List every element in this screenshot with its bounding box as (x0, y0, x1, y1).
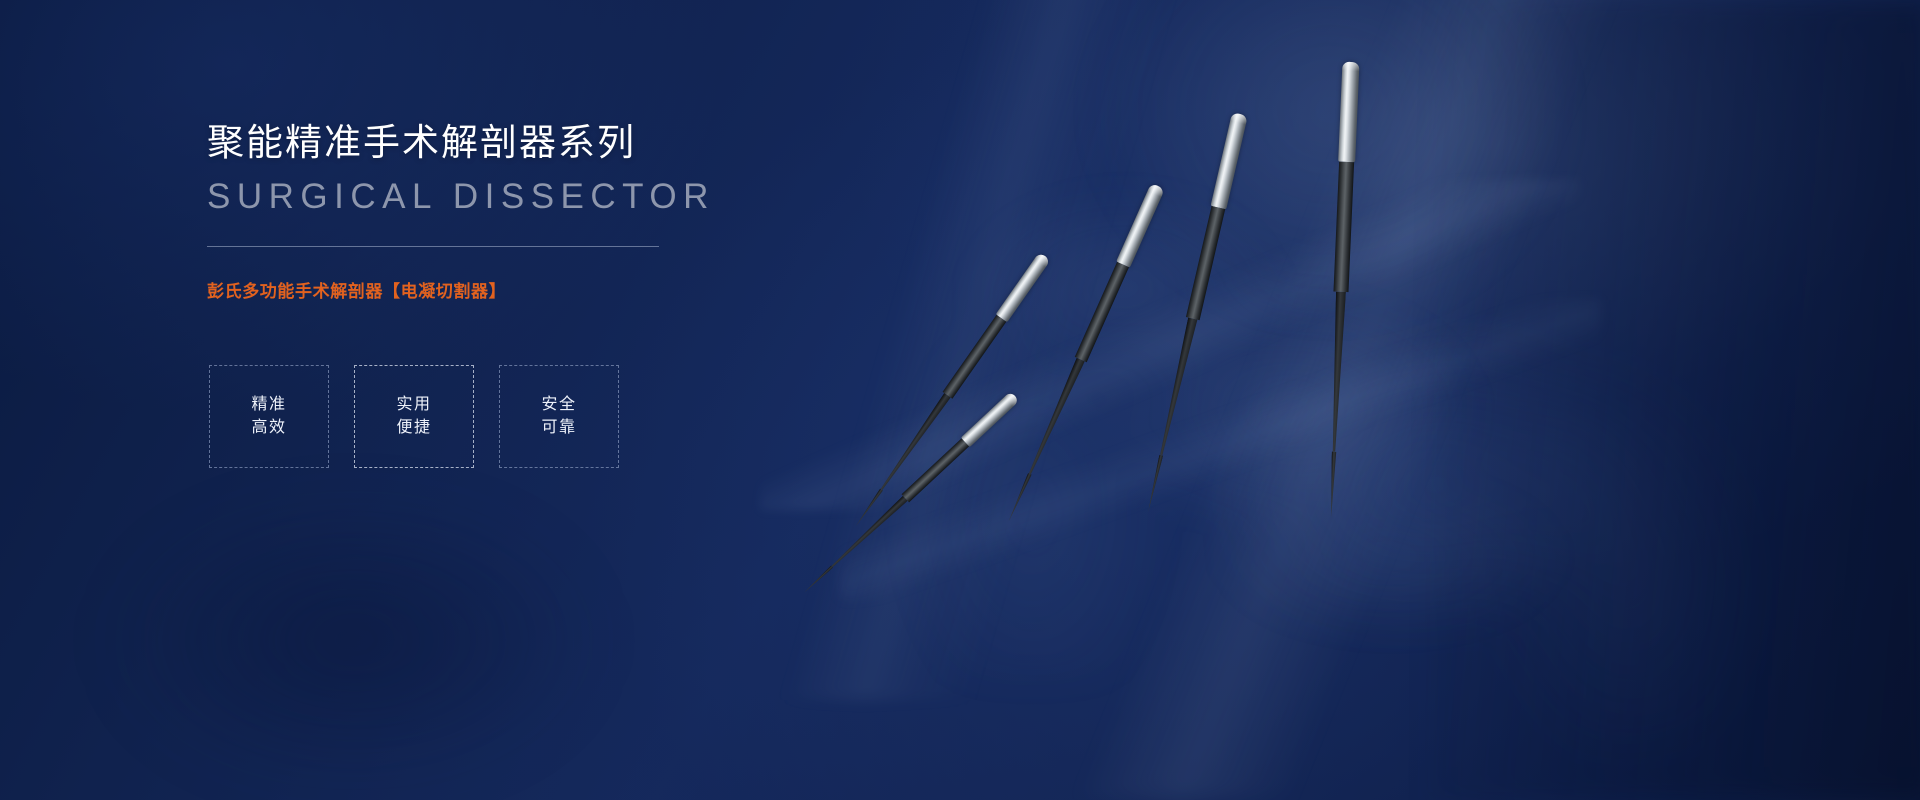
feature-box-3-line2: 可靠 (541, 420, 576, 436)
instrument-1-handle (961, 391, 1020, 447)
feature-box-1-line2: 高效 (251, 420, 286, 436)
instrument-3-tip-group (993, 182, 1168, 538)
instrument-3 (1071, 182, 1168, 365)
instrument-3-point (1007, 473, 1032, 522)
instrument-5-shaft (1333, 162, 1354, 293)
instrument-4-tip (1157, 318, 1198, 457)
title-divider (207, 246, 659, 247)
instrument-1 (899, 389, 1021, 504)
feature-box-list: 精准 高效 实用 便捷 安全 可靠 (209, 365, 619, 468)
background-right-vignette (1430, 0, 1920, 800)
feature-box-3-line1: 安全 (541, 397, 576, 413)
page-title-cn: 聚能精准手术解剖器系列 (207, 120, 636, 166)
instrument-1-shaft (902, 438, 969, 502)
feature-box-2[interactable]: 实用 便捷 (354, 365, 474, 468)
product-subtitle: 彭氏多功能手术解剖器【电凝切割器】 (207, 277, 506, 302)
feature-box-2-line1: 实用 (396, 397, 431, 413)
instrument-5-point (1329, 452, 1336, 518)
feature-box-3[interactable]: 安全 可靠 (499, 365, 619, 468)
background-arm-silhouette (1047, 202, 1832, 800)
background-hand-silhouette (820, 120, 1580, 680)
background-instrument-streak-2 (840, 300, 1600, 600)
feature-box-1-line1: 精准 (251, 397, 286, 413)
instrument-5-tip (1329, 292, 1346, 452)
instrument-4-shaft (1186, 206, 1225, 320)
page-title-en: SURGICAL DISSECTOR (207, 174, 715, 220)
feature-box-1[interactable]: 精准 高效 (209, 365, 329, 468)
instrument-4-point (1146, 455, 1163, 512)
banner-content: 聚能精准手术解剖器系列 SURGICAL DISSECTOR 彭氏多功能手术解剖… (207, 0, 907, 800)
instrument-4-tip-group (1134, 111, 1252, 526)
background-top-glow (980, 0, 1680, 420)
instrument-2-shaft (943, 315, 1007, 399)
instrument-3-shaft (1075, 262, 1129, 362)
instrument-2 (939, 250, 1053, 401)
instrument-4 (1181, 111, 1252, 321)
instrument-3-tip (1026, 358, 1085, 476)
instrument-5 (1328, 61, 1364, 292)
instrument-2-handle (996, 252, 1051, 322)
feature-box-2-line2: 便捷 (396, 420, 431, 436)
background-light-streak-2 (1000, 0, 1720, 800)
instrument-4-handle (1211, 112, 1248, 209)
instrument-5-tip-group (1317, 61, 1364, 542)
product-banner: 聚能精准手术解剖器系列 SURGICAL DISSECTOR 彭氏多功能手术解剖… (0, 0, 1920, 800)
instrument-3-handle (1116, 183, 1165, 268)
instrument-5-handle (1338, 62, 1359, 163)
